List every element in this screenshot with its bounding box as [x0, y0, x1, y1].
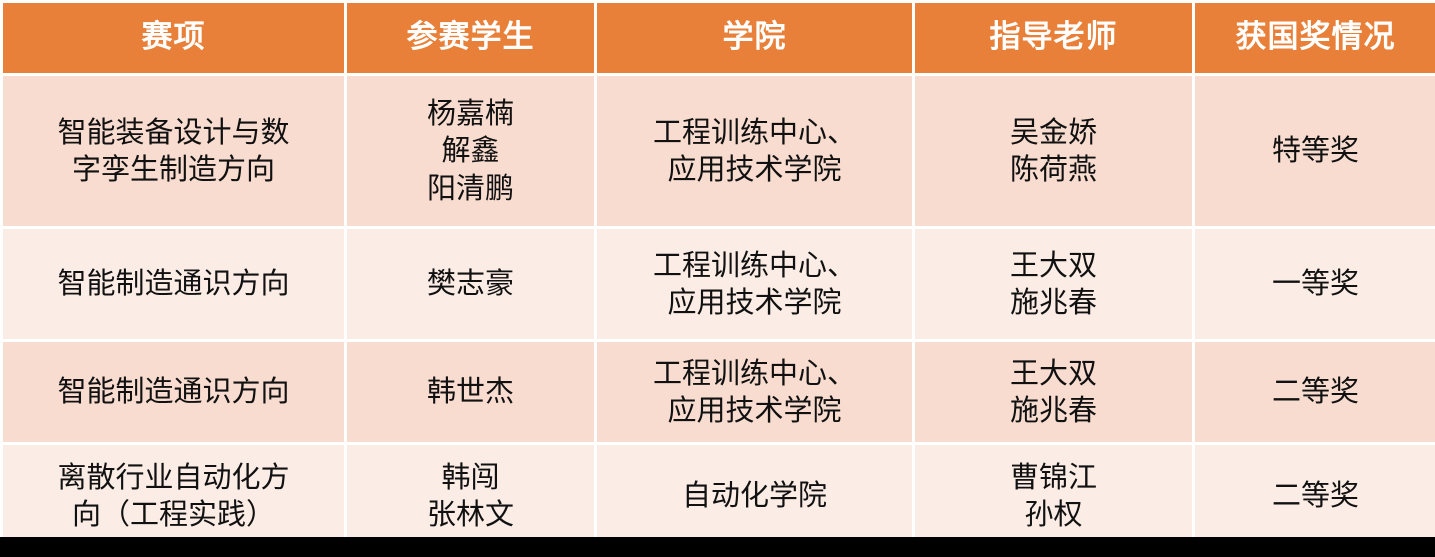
cell-student: 韩世杰 — [347, 342, 594, 442]
cell-award: 二等奖 — [1195, 342, 1435, 442]
cell-event: 智能装备设计与数 字孪生制造方向 — [3, 76, 344, 226]
cell-student: 韩闯 张林文 — [347, 445, 594, 547]
table-row: 离散行业自动化方 向（工程实践） 韩闯 张林文 自动化学院 曹锦江 孙权 二等奖 — [3, 445, 1435, 547]
cell-teacher: 吴金娇 陈荷燕 — [915, 76, 1192, 226]
cell-teacher: 王大双 施兆春 — [915, 229, 1192, 339]
cell-award: 特等奖 — [1195, 76, 1435, 226]
table-row: 智能制造通识方向 樊志豪 工程训练中心、 应用技术学院 王大双 施兆春 一等奖 — [3, 229, 1435, 339]
table-header-row: 赛项 参赛学生 学院 指导老师 获国奖情况 — [3, 3, 1435, 73]
table-row: 智能制造通识方向 韩世杰 工程训练中心、 应用技术学院 王大双 施兆春 二等奖 — [3, 342, 1435, 442]
cell-event: 智能制造通识方向 — [3, 229, 344, 339]
column-header-student: 参赛学生 — [347, 3, 594, 73]
cell-student: 杨嘉楠 解鑫 阳清鹏 — [347, 76, 594, 226]
cell-event: 智能制造通识方向 — [3, 342, 344, 442]
column-header-award: 获国奖情况 — [1195, 3, 1435, 73]
cell-college: 自动化学院 — [597, 445, 912, 547]
table-body: 智能装备设计与数 字孪生制造方向 杨嘉楠 解鑫 阳清鹏 工程训练中心、 应用技术… — [3, 76, 1435, 547]
table-header: 赛项 参赛学生 学院 指导老师 获国奖情况 — [3, 3, 1435, 73]
cell-award: 一等奖 — [1195, 229, 1435, 339]
award-table-page: 赛项 参赛学生 学院 指导老师 获国奖情况 智能装备设计与数 字孪生制造方向 杨… — [0, 0, 1435, 557]
column-header-teacher: 指导老师 — [915, 3, 1192, 73]
cell-college: 工程训练中心、 应用技术学院 — [597, 229, 912, 339]
cell-award: 二等奖 — [1195, 445, 1435, 547]
column-header-event: 赛项 — [3, 3, 344, 73]
cell-student: 樊志豪 — [347, 229, 594, 339]
bottom-black-strip — [0, 537, 1435, 557]
cell-college: 工程训练中心、 应用技术学院 — [597, 342, 912, 442]
cell-teacher: 曹锦江 孙权 — [915, 445, 1192, 547]
cell-teacher: 王大双 施兆春 — [915, 342, 1192, 442]
cell-college: 工程训练中心、 应用技术学院 — [597, 76, 912, 226]
national-award-results-table: 赛项 参赛学生 学院 指导老师 获国奖情况 智能装备设计与数 字孪生制造方向 杨… — [0, 0, 1435, 550]
column-header-college: 学院 — [597, 3, 912, 73]
cell-event: 离散行业自动化方 向（工程实践） — [3, 445, 344, 547]
table-row: 智能装备设计与数 字孪生制造方向 杨嘉楠 解鑫 阳清鹏 工程训练中心、 应用技术… — [3, 76, 1435, 226]
